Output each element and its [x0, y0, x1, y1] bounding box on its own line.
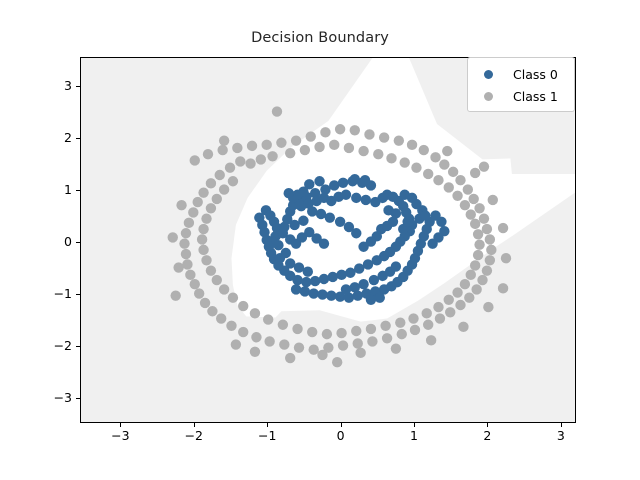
x-tick-mark — [267, 423, 268, 427]
y-tick-mark — [76, 294, 80, 295]
y-tick-mark — [76, 398, 80, 399]
scatter-point — [198, 224, 208, 234]
scatter-point — [422, 308, 432, 318]
scatter-point — [498, 283, 508, 293]
scatter-point — [219, 284, 229, 294]
x-tick-label: 1 — [394, 428, 434, 443]
scatter-point — [397, 329, 407, 339]
scatter-point — [448, 167, 458, 177]
scatter-point — [228, 176, 238, 186]
scatter-point — [391, 343, 401, 353]
scatter-point — [394, 135, 404, 145]
scatter-point — [200, 298, 210, 308]
scatter-point — [272, 106, 282, 116]
scatter-point — [285, 148, 295, 158]
scatter-point — [423, 169, 433, 179]
scatter-point — [198, 245, 208, 255]
scatter-point — [336, 270, 346, 280]
scatter-point — [460, 279, 470, 289]
scatter-point — [460, 200, 470, 210]
scatter-point — [501, 253, 511, 263]
scatter-point — [179, 238, 189, 248]
scatter-point — [250, 308, 260, 318]
scatter-point — [201, 255, 211, 265]
scatter-point — [341, 190, 351, 200]
figure-canvas: Decision Boundary −3−2−10123−3−2−10123 C… — [0, 0, 640, 480]
chart-legend[interactable]: Class 0 Class 1 — [467, 57, 575, 112]
legend-marker-class-1 — [484, 92, 493, 101]
y-tick-label: 3 — [42, 78, 72, 93]
legend-marker-class-0 — [484, 70, 493, 79]
scatter-point — [263, 314, 273, 324]
scatter-point — [319, 238, 329, 248]
scatter-point — [190, 279, 200, 289]
scatter-point — [216, 313, 226, 323]
scatter-point — [455, 175, 465, 185]
scatter-point — [420, 210, 430, 220]
scatter-point — [470, 168, 480, 178]
scatter-point — [469, 194, 479, 204]
scatter-point — [452, 287, 462, 297]
x-tick-mark — [414, 423, 415, 427]
scatter-point — [201, 213, 211, 223]
scatter-point — [419, 145, 429, 155]
scatter-point — [300, 286, 310, 296]
scatter-point — [226, 321, 236, 331]
y-tick-label: 0 — [42, 234, 72, 249]
scatter-point — [181, 249, 191, 259]
scatter-point — [479, 213, 489, 223]
scatter-point — [361, 195, 371, 205]
scatter-point — [445, 307, 455, 317]
scatter-point — [332, 357, 342, 367]
scatter-point — [308, 345, 318, 355]
y-tick-label: 1 — [42, 182, 72, 197]
scatter-point — [423, 320, 433, 330]
scatter-point — [219, 135, 229, 145]
scatter-point — [470, 260, 480, 270]
scatter-point — [300, 145, 310, 155]
x-tick-label: −2 — [174, 428, 214, 443]
scatter-point — [256, 154, 266, 164]
scatter-point — [488, 195, 498, 205]
scatter-plot-svg — [81, 58, 575, 422]
scatter-point — [375, 293, 385, 303]
scatter-point — [407, 140, 417, 150]
legend-entry-class-0: Class 0 — [475, 63, 567, 85]
scatter-point — [301, 277, 311, 287]
y-tick-mark — [76, 242, 80, 243]
scatter-point — [320, 127, 330, 137]
scatter-point — [228, 293, 238, 303]
scatter-point — [366, 324, 376, 334]
scatter-point — [329, 180, 339, 190]
scatter-point — [276, 138, 286, 148]
scatter-point — [366, 295, 376, 305]
scatter-point — [436, 217, 446, 227]
scatter-point — [329, 140, 339, 150]
scatter-point — [364, 129, 374, 139]
scatter-point — [173, 262, 183, 272]
legend-label-class-0: Class 0 — [513, 67, 558, 82]
scatter-point — [485, 234, 495, 244]
scatter-point — [319, 274, 329, 284]
scatter-point — [355, 348, 365, 358]
x-tick-label: −3 — [100, 428, 140, 443]
scatter-point — [350, 125, 360, 135]
scatter-point — [217, 145, 227, 155]
scatter-point — [344, 222, 354, 232]
scatter-point — [314, 142, 324, 152]
scatter-point — [310, 276, 320, 286]
scatter-point — [373, 149, 383, 159]
scatter-point — [410, 325, 420, 335]
scatter-point — [291, 135, 301, 145]
scatter-point — [235, 156, 245, 166]
scatter-point — [336, 328, 346, 338]
scatter-point — [335, 124, 345, 134]
scatter-point — [291, 284, 301, 294]
scatter-point — [479, 161, 489, 171]
y-tick-label: −1 — [42, 286, 72, 301]
scatter-point — [386, 153, 396, 163]
scatter-point — [358, 242, 368, 252]
scatter-point — [466, 209, 476, 219]
scatter-point — [188, 207, 198, 217]
scatter-point — [442, 146, 452, 156]
scatter-point — [322, 329, 332, 339]
scatter-point — [483, 302, 493, 312]
scatter-point — [317, 350, 327, 360]
scatter-point — [225, 163, 235, 173]
scatter-point — [466, 270, 476, 280]
scatter-point — [307, 206, 317, 216]
scatter-point — [408, 313, 418, 323]
scatter-point — [427, 238, 437, 248]
scatter-point — [219, 184, 229, 194]
scatter-point — [206, 265, 216, 275]
scatter-point — [473, 250, 483, 260]
scatter-point — [316, 209, 326, 219]
scatter-point — [477, 275, 487, 285]
scatter-point — [433, 175, 443, 185]
scatter-point — [426, 335, 436, 345]
scatter-point — [411, 163, 421, 173]
scatter-point — [473, 229, 483, 239]
scatter-point — [464, 293, 474, 303]
scatter-point — [379, 132, 389, 142]
scatter-point — [194, 288, 204, 298]
scatter-point — [264, 336, 274, 346]
scatter-point — [391, 208, 401, 218]
scatter-point — [382, 333, 392, 343]
scatter-point — [232, 143, 242, 153]
scatter-point — [231, 339, 241, 349]
scatter-point — [303, 267, 313, 277]
scatter-point — [458, 322, 468, 332]
scatter-point — [203, 149, 213, 159]
scatter-point — [176, 200, 186, 210]
scatter-point — [197, 234, 207, 244]
scatter-point — [168, 232, 178, 242]
scatter-point — [308, 288, 318, 298]
scatter-point — [279, 339, 289, 349]
x-tick-label: 2 — [467, 428, 507, 443]
scatter-point — [471, 284, 481, 294]
y-tick-mark — [76, 86, 80, 87]
scatter-point — [314, 176, 324, 186]
x-tick-label: 0 — [321, 428, 361, 443]
scatter-point — [350, 282, 360, 292]
scatter-point — [402, 217, 412, 227]
scatter-point — [485, 255, 495, 265]
scatter-point — [353, 338, 363, 348]
scatter-point — [262, 140, 272, 150]
scatter-point — [338, 178, 348, 188]
scatter-point — [430, 152, 440, 162]
scatter-point — [212, 194, 222, 204]
scatter-point — [278, 320, 288, 330]
legend-entry-class-1: Class 1 — [475, 85, 567, 107]
scatter-point — [294, 342, 304, 352]
x-tick-label: −1 — [247, 428, 287, 443]
legend-label-class-1: Class 1 — [513, 89, 558, 104]
scatter-point — [452, 191, 462, 201]
y-tick-label: −2 — [42, 338, 72, 353]
scatter-point — [400, 157, 410, 167]
scatter-point — [338, 340, 348, 350]
x-tick-label: 3 — [541, 428, 581, 443]
scatter-point — [238, 301, 248, 311]
scatter-point — [335, 217, 345, 227]
scatter-point — [341, 284, 351, 294]
scatter-point — [184, 218, 194, 228]
chart-title: Decision Boundary — [0, 30, 640, 46]
scatter-point — [215, 170, 225, 180]
y-tick-mark — [76, 138, 80, 139]
scatter-point — [474, 203, 484, 213]
scatter-point — [193, 197, 203, 207]
scatter-point — [326, 290, 336, 300]
scatter-point — [250, 347, 260, 357]
scatter-point — [273, 240, 283, 250]
y-tick-mark — [76, 190, 80, 191]
scatter-point — [238, 327, 248, 337]
scatter-point — [433, 302, 443, 312]
scatter-point — [351, 193, 361, 203]
scatter-point — [307, 327, 317, 337]
scatter-point — [206, 203, 216, 213]
scatter-point — [482, 224, 492, 234]
scatter-point — [486, 245, 496, 255]
scatter-point — [245, 158, 255, 168]
scatter-point — [289, 220, 299, 230]
scatter-point — [444, 295, 454, 305]
scatter-point — [435, 313, 445, 323]
scatter-point — [367, 336, 377, 346]
scatter-point — [181, 228, 191, 238]
scatter-point — [212, 275, 222, 285]
x-tick-mark — [487, 423, 488, 427]
x-tick-mark — [120, 423, 121, 427]
scatter-point — [284, 188, 294, 198]
scatter-point — [317, 289, 327, 299]
scatter-point — [463, 184, 473, 194]
x-tick-mark — [561, 423, 562, 427]
scatter-point — [380, 321, 390, 331]
scatter-point — [358, 146, 368, 156]
scatter-point — [328, 272, 338, 282]
scatter-point — [267, 151, 277, 161]
scatter-point — [350, 174, 360, 184]
scatter-point — [247, 141, 257, 151]
scatter-point — [206, 178, 216, 188]
scatter-point — [474, 239, 484, 249]
scatter-point — [190, 155, 200, 165]
scatter-point — [482, 265, 492, 275]
x-tick-mark — [194, 423, 195, 427]
scatter-point — [285, 353, 295, 363]
scatter-point — [351, 326, 361, 336]
scatter-point — [275, 253, 285, 263]
scatter-point — [360, 175, 370, 185]
scatter-point — [292, 324, 302, 334]
scatter-point — [391, 261, 401, 271]
scatter-point — [185, 270, 195, 280]
scatter-point — [395, 317, 405, 327]
y-tick-label: 2 — [42, 130, 72, 145]
scatter-point — [439, 159, 449, 169]
scatter-point — [254, 212, 264, 222]
x-tick-mark — [341, 423, 342, 427]
scatter-point — [455, 300, 465, 310]
scatter-point — [207, 306, 217, 316]
scatter-point — [344, 143, 354, 153]
scatter-point — [170, 290, 180, 300]
scatter-point — [498, 223, 508, 233]
scatter-point — [444, 182, 454, 192]
scatter-point — [251, 332, 261, 342]
scatter-point — [306, 131, 316, 141]
scatter-point — [345, 268, 355, 278]
y-tick-label: −3 — [42, 390, 72, 405]
scatter-point — [470, 219, 480, 229]
scatter-point — [198, 187, 208, 197]
y-tick-mark — [76, 346, 80, 347]
